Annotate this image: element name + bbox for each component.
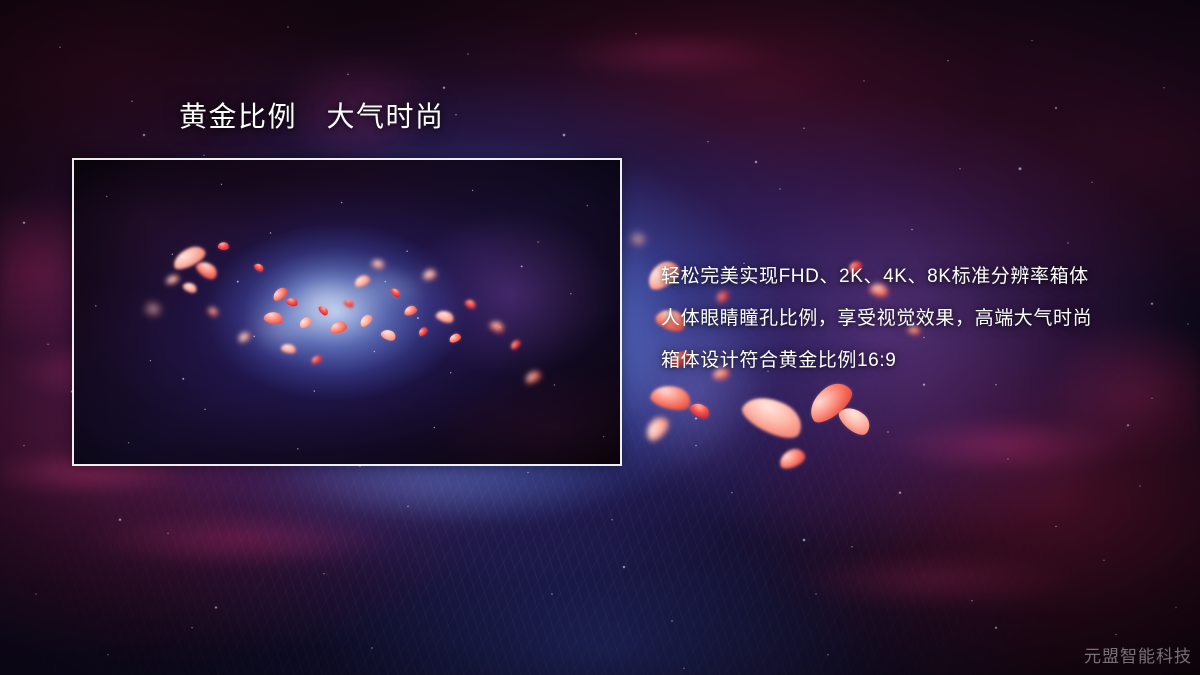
watermark: 元盟智能科技 [1084, 642, 1192, 667]
body-line-1: 轻松完美实现FHD、2K、4K、8K标准分辨率箱体 [661, 256, 1161, 298]
photo-vignette [74, 160, 620, 464]
body-line-3: 箱体设计符合黄金比例16:9 [661, 340, 1161, 382]
presentation-slide: 黄金比例 大气时尚 轻松完美实现FHD、2K、4K、8K标准分辨率箱体 人体眼睛… [0, 0, 1200, 675]
slide-title: 黄金比例 大气时尚 [179, 100, 445, 134]
photo-frame [72, 158, 622, 466]
body-line-2: 人体眼睛瞳孔比例，享受视觉效果，高端大气时尚 [661, 298, 1161, 340]
body-text-block: 轻松完美实现FHD、2K、4K、8K标准分辨率箱体 人体眼睛瞳孔比例，享受视觉效… [661, 256, 1161, 382]
